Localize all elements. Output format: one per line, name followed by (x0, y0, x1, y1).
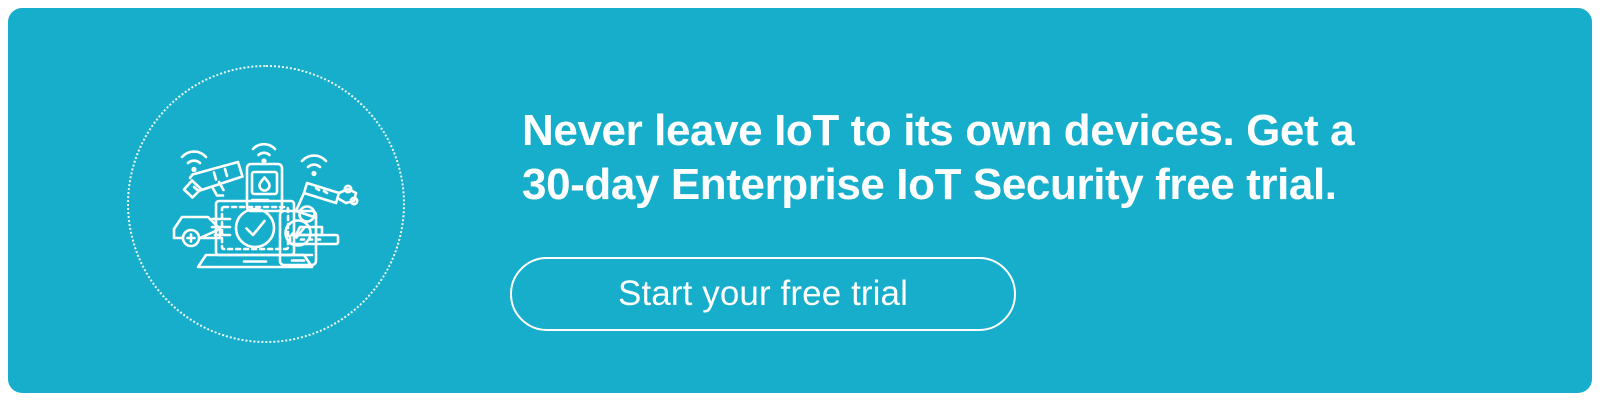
promo-banner: Never leave IoT to its own devices. Get … (8, 8, 1592, 393)
headline-container: Never leave IoT to its own devices. Get … (522, 104, 1422, 212)
water-drop-icon (260, 178, 270, 191)
tablet-monitor-icon (247, 164, 282, 211)
iot-devices-illustration (168, 135, 364, 273)
page-title: Never leave IoT to its own devices. Get … (522, 104, 1422, 212)
wifi-signal-icon (182, 152, 206, 173)
wifi-signal-icon (302, 156, 326, 177)
cta-container: Start your free trial (510, 257, 1016, 331)
wifi-signal-icon (253, 144, 275, 163)
check-circle-icon (236, 209, 274, 247)
illustration-container (127, 65, 405, 343)
start-free-trial-button[interactable]: Start your free trial (510, 257, 1016, 331)
